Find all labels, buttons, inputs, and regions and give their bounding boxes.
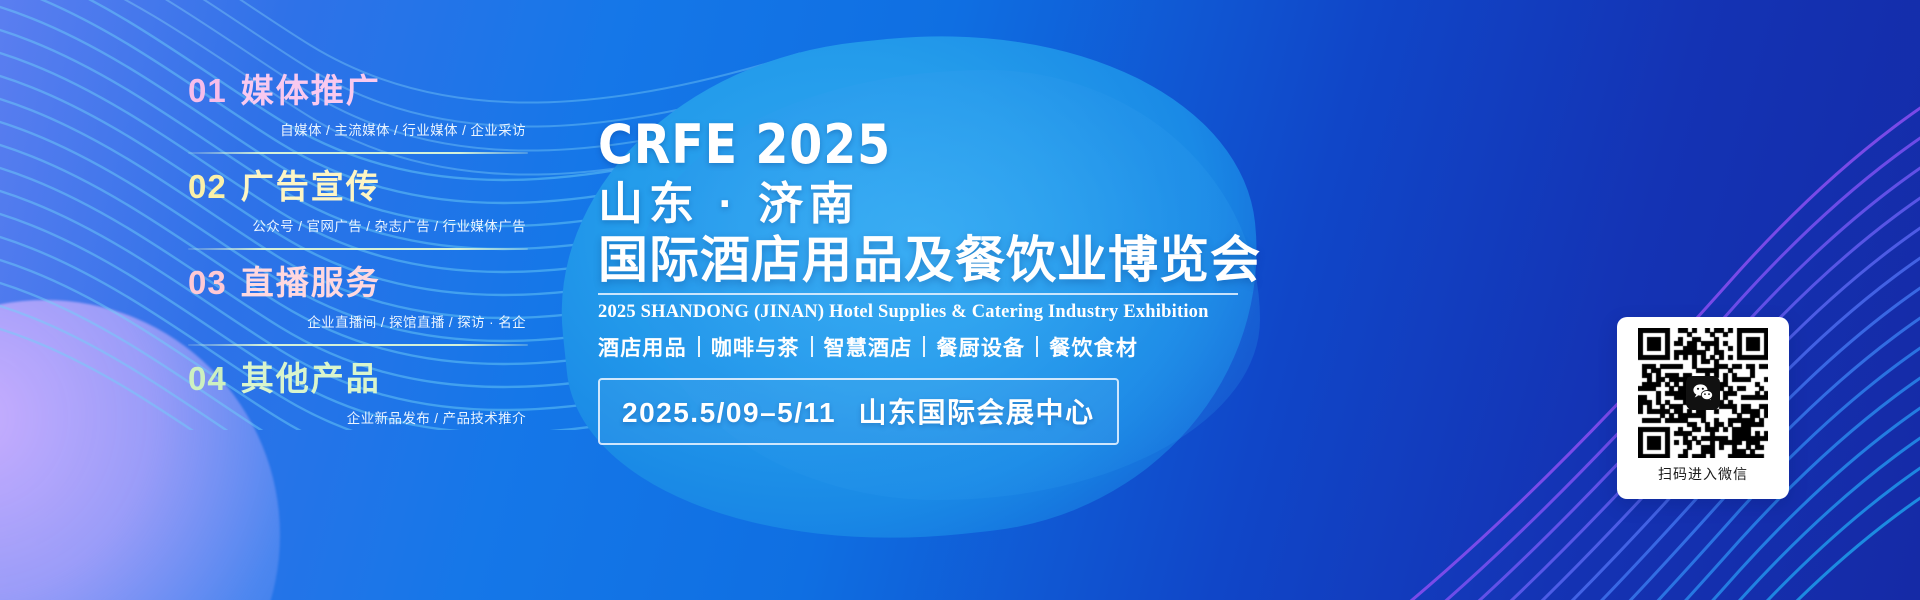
- wechat-icon: [1686, 376, 1720, 410]
- category-item: 餐饮食材: [1049, 332, 1138, 362]
- event-venue: 山东国际会展中心: [859, 397, 1095, 428]
- exhibition-banner: 01 媒体推广 自媒体 / 主流媒体 / 行业媒体 / 企业采访 02 广告宣传…: [0, 0, 1920, 600]
- wechat-qr-card[interactable]: 扫码进入微信: [1617, 317, 1789, 499]
- date-venue-box: 2025.5/09–5/11 山东国际会展中心: [598, 378, 1119, 445]
- service-item-heading: 02 广告宣传: [188, 170, 528, 203]
- category-item: 智慧酒店: [824, 332, 913, 362]
- event-city: 山东 · 济南: [598, 181, 1238, 226]
- service-item-title: 媒体推广: [241, 74, 381, 107]
- category-item: 餐厨设备: [936, 332, 1025, 362]
- service-item-title: 直播服务: [241, 266, 381, 299]
- category-separator: [811, 336, 813, 357]
- service-item-subtitle: 公众号 / 官网广告 / 杂志广告 / 行业媒体广告: [188, 215, 528, 235]
- category-item: 酒店用品: [598, 332, 687, 362]
- category-item: 咖啡与茶: [711, 332, 800, 362]
- service-item-heading: 04 其他产品: [188, 362, 528, 395]
- list-divider-2: [188, 248, 528, 250]
- service-item-heading: 03 直播服务: [188, 266, 528, 299]
- wave-lines-bottom-right: [1220, 20, 1920, 600]
- category-separator: [698, 336, 700, 357]
- event-title: 国际酒店用品及餐饮业博览会: [598, 234, 1238, 287]
- event-date: 2025.5/09–5/11: [622, 397, 836, 428]
- qr-caption: 扫码进入微信: [1658, 464, 1748, 484]
- event-title-english: 2025 SHANDONG (JINAN) Hotel Supplies & C…: [598, 293, 1238, 323]
- service-item-number: 04: [188, 362, 227, 395]
- service-item-subtitle: 企业直播间 / 探馆直播 / 探访 · 名企: [188, 311, 528, 331]
- list-divider-3: [188, 344, 528, 346]
- service-item-heading: 01 媒体推广: [188, 74, 528, 107]
- event-code: CRFE 2025: [598, 118, 1161, 172]
- service-item-01[interactable]: 01 媒体推广 自媒体 / 主流媒体 / 行业媒体 / 企业采访: [188, 74, 528, 139]
- list-divider-1: [188, 152, 528, 154]
- service-item-number: 02: [188, 170, 227, 203]
- category-separator: [923, 336, 925, 357]
- qr-code-holder: [1638, 328, 1768, 458]
- service-list: 01 媒体推广 自媒体 / 主流媒体 / 行业媒体 / 企业采访 02 广告宣传…: [188, 74, 528, 427]
- category-separator: [1036, 336, 1038, 357]
- service-item-04[interactable]: 04 其他产品 企业新品发布 / 产品技术推介: [188, 362, 528, 427]
- service-item-subtitle: 企业新品发布 / 产品技术推介: [188, 407, 528, 427]
- category-list: 酒店用品 咖啡与茶 智慧酒店 餐厨设备 餐饮食材: [598, 332, 1238, 362]
- headline-block: CRFE 2025 山东 · 济南 国际酒店用品及餐饮业博览会 2025 SHA…: [598, 118, 1238, 445]
- service-item-02[interactable]: 02 广告宣传 公众号 / 官网广告 / 杂志广告 / 行业媒体广告: [188, 170, 528, 235]
- service-item-03[interactable]: 03 直播服务 企业直播间 / 探馆直播 / 探访 · 名企: [188, 266, 528, 331]
- service-item-number: 01: [188, 74, 227, 107]
- service-item-title: 广告宣传: [241, 170, 381, 203]
- service-item-title: 其他产品: [241, 362, 381, 395]
- service-item-subtitle: 自媒体 / 主流媒体 / 行业媒体 / 企业采访: [188, 119, 528, 139]
- service-item-number: 03: [188, 266, 227, 299]
